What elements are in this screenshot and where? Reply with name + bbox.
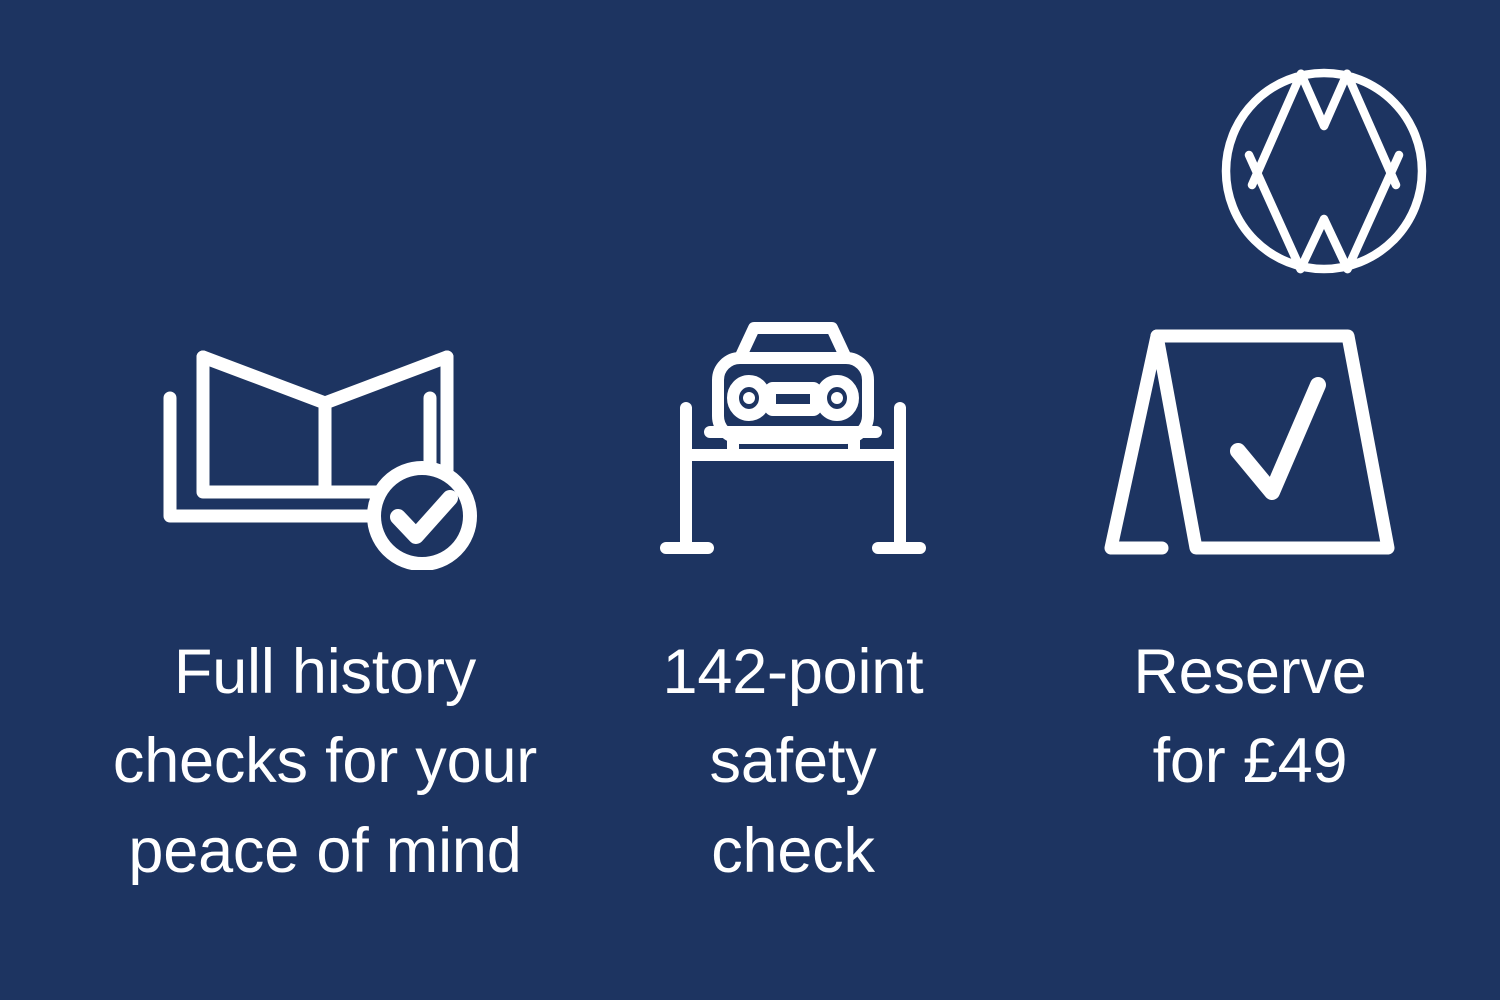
benefit-caption: Full history checks for your peace of mi… — [113, 628, 537, 896]
car-on-lift-icon — [658, 320, 928, 570]
benefit-full-history-checks: Full history checks for your peace of mi… — [45, 320, 605, 896]
a-frame-sign-check-icon — [1100, 320, 1400, 570]
benefit-safety-check: 142-point safety check — [618, 320, 968, 896]
promo-banner: Full history checks for your peace of mi… — [0, 0, 1500, 1000]
benefit-reserve: Reserve for £49 — [1060, 320, 1440, 807]
benefit-caption: Reserve for £49 — [1133, 628, 1366, 807]
open-book-check-icon — [160, 320, 490, 570]
volkswagen-logo — [1219, 65, 1429, 277]
benefit-caption: 142-point safety check — [663, 628, 924, 896]
